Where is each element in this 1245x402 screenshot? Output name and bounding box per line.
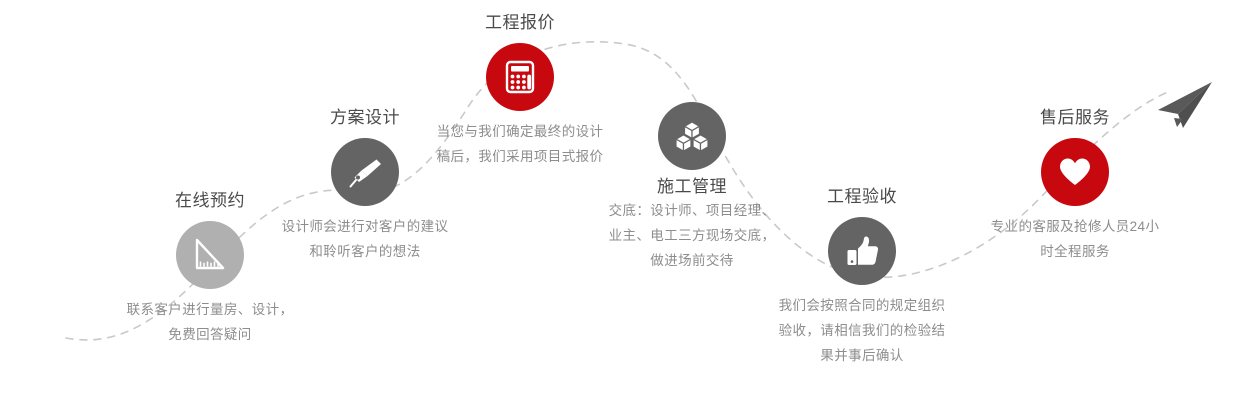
step-description: 专业的客服及抢修人员24小时全程服务 bbox=[990, 214, 1160, 264]
fountain-pen-glyph bbox=[345, 152, 385, 192]
step-description: 我们会按照合同的规定组织验收，请相信我们的检验结果并事后确认 bbox=[777, 293, 947, 368]
heart-icon bbox=[1041, 138, 1109, 206]
step-description: 设计师会进行对客户的建议和聆听客户的想法 bbox=[280, 214, 450, 264]
ruler-triangle-glyph bbox=[190, 235, 230, 275]
cubes-icon bbox=[658, 102, 726, 170]
thumbs-up-icon bbox=[828, 217, 896, 285]
step-description: 当您与我们确定最终的设计稿后，我们采用项目式报价 bbox=[435, 119, 605, 169]
step-5: 工程验收 我们会按照合同的规定组织验收，请相信我们的检验结果并事后确认 bbox=[762, 186, 962, 368]
step-title: 工程报价 bbox=[420, 12, 620, 34]
process-flow-infographic: 在线预约 联系客户进行量房、设计，免费回答疑问 方案设计 bbox=[0, 0, 1245, 402]
calculator-glyph bbox=[500, 57, 540, 97]
calculator-icon bbox=[486, 43, 554, 111]
cubes-glyph bbox=[672, 116, 712, 156]
step-title: 售后服务 bbox=[975, 107, 1175, 129]
paper-plane-icon bbox=[1152, 78, 1218, 139]
ruler-triangle-icon bbox=[176, 221, 244, 289]
step-title: 工程验收 bbox=[762, 186, 962, 208]
thumbs-up-glyph bbox=[842, 231, 882, 271]
step-description: 联系客户进行量房、设计，免费回答疑问 bbox=[125, 297, 295, 347]
step-6: 售后服务 专业的客服及抢修人员24小时全程服务 bbox=[975, 107, 1175, 264]
paper-plane-glyph bbox=[1152, 78, 1218, 134]
heart-glyph bbox=[1055, 152, 1095, 192]
fountain-pen-icon bbox=[331, 138, 399, 206]
step-3: 工程报价 当您与我们确定最终的设计稿后，我们采用项目 bbox=[420, 12, 620, 169]
step-description: 交底：设计师、项目经理、业主、电工三方现场交底，做进场前交待 bbox=[602, 198, 782, 273]
